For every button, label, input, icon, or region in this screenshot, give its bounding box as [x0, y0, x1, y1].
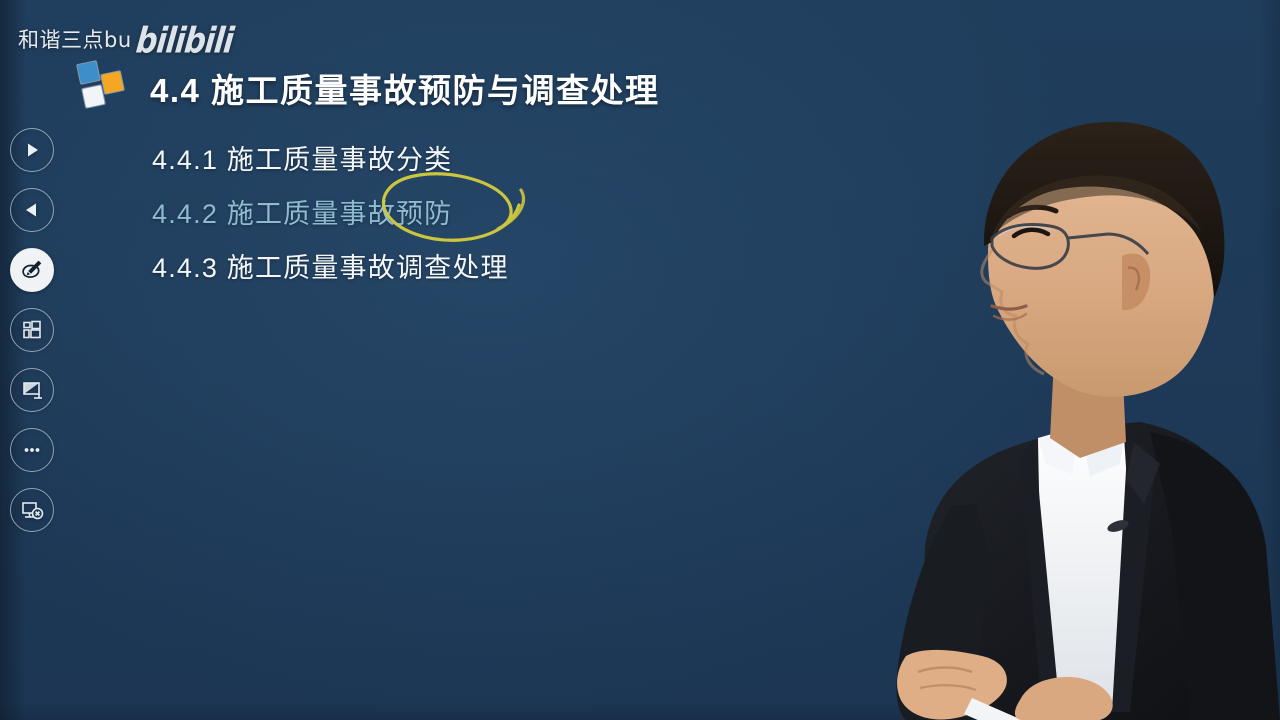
play-prev-icon: [21, 199, 43, 221]
presentation-screen: 4.4 施工质量事故预防与调查处理 4.4.1 施工质量事故分类 4.4.2 施…: [0, 0, 1280, 720]
agenda-item-1[interactable]: 4.4.1 施工质量事故分类: [152, 133, 509, 187]
toolbar-pen-button[interactable]: [10, 248, 54, 292]
slide-overview-icon: [20, 318, 44, 342]
toolbar-more-button[interactable]: [10, 428, 54, 472]
slide-title: 4.4 施工质量事故预防与调查处理: [150, 64, 660, 112]
watermark: 和谐三点bu bilibili: [18, 24, 234, 54]
zoom-slide-icon: [20, 378, 44, 402]
toolbar-end-show-button[interactable]: [10, 488, 54, 532]
toolbar-zoom-button[interactable]: [10, 368, 54, 412]
toolbar-prev-button[interactable]: [10, 188, 54, 232]
pen-annotate-icon: [19, 257, 45, 283]
toolbar-overview-button[interactable]: [10, 308, 54, 352]
three-diamonds-logo: [74, 58, 136, 116]
agenda-item-2[interactable]: 4.4.2 施工质量事故预防: [152, 187, 509, 241]
watermark-platform: bilibili: [134, 24, 234, 59]
agenda-item-3[interactable]: 4.4.3 施工质量事故调查处理: [152, 241, 509, 295]
watermark-username: 和谐三点bu: [18, 24, 132, 51]
toolbar-next-button[interactable]: [10, 128, 54, 172]
presentation-toolbar: [10, 128, 54, 532]
end-show-icon: [20, 498, 44, 522]
play-next-icon: [21, 139, 43, 161]
more-options-icon: [20, 438, 44, 462]
slide-agenda-list: 4.4.1 施工质量事故分类 4.4.2 施工质量事故预防 4.4.3 施工质量…: [152, 133, 509, 295]
